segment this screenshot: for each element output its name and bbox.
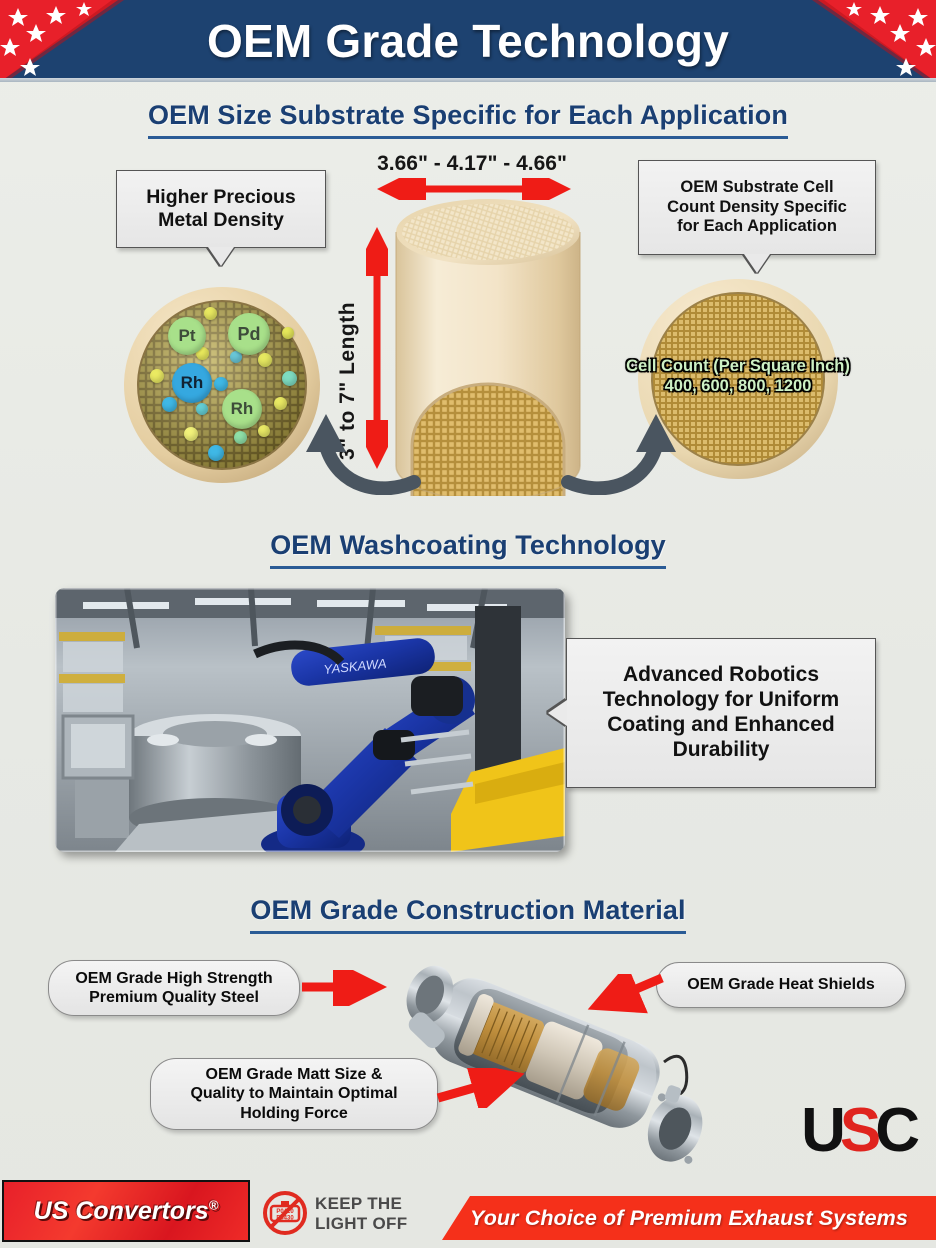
pointer-arrow-matt-icon	[436, 1068, 536, 1108]
particle	[234, 431, 247, 444]
metal-bubble-rh-green: Rh	[222, 389, 262, 429]
section-heading-substrate: OEM Size Substrate Specific for Each App…	[0, 100, 936, 139]
tagline-text: Your Choice of Premium Exhaust Systems	[442, 1196, 936, 1240]
callout-oem-grade-heat-shields: OEM Grade Heat Shields	[656, 962, 906, 1008]
keep-light-off-badge: P0420 P0430 KEEP THE LIGHT OFF	[262, 1190, 407, 1236]
particle	[208, 445, 224, 461]
infographic-page: OEM Grade Technology OEM Size Substrate …	[0, 0, 936, 1248]
connector-arrow-right-icon	[560, 400, 690, 495]
callout-tail-icon	[548, 700, 567, 726]
metal-bubble-rh-blue: Rh	[172, 363, 212, 403]
callout-line: Durability	[603, 738, 839, 763]
logo-letter-c: C	[875, 1096, 914, 1165]
particle	[258, 353, 272, 367]
callout-line: OEM Substrate Cell	[667, 178, 847, 197]
particle	[282, 327, 294, 339]
callout-tail-icon	[208, 247, 234, 266]
particle	[274, 397, 287, 410]
callout-line: Premium Quality Steel	[75, 988, 272, 1007]
section-heading-washcoating: OEM Washcoating Technology	[0, 530, 936, 569]
callout-oem-grade-matt-size-quality: OEM Grade Matt Size & Quality to Maintai…	[150, 1058, 438, 1130]
keep-light-line-1: KEEP THE	[315, 1195, 407, 1212]
keep-light-off-text: KEEP THE LIGHT OFF	[315, 1195, 407, 1232]
callout-high-strength-premium-steel: OEM Grade High Strength Premium Quality …	[48, 960, 300, 1016]
particle	[184, 427, 198, 441]
pointer-arrow-heat-shields-icon	[582, 974, 668, 1018]
cell-count-title: Cell Count (Per Square Inch)	[600, 357, 876, 377]
particle	[150, 369, 164, 383]
metal-bubble-pd: Pd	[228, 313, 270, 355]
particle	[214, 377, 228, 391]
callout-line: Count Density Specific	[667, 198, 847, 217]
metal-bubble-pt: Pt	[168, 317, 206, 355]
logo-letter-s: S	[840, 1096, 875, 1165]
page-footer: US Convertors® P0420 P0430 KEEP THE LIGH…	[0, 1170, 936, 1248]
robotics-factory-photo: YASKAWA	[55, 588, 565, 852]
particle	[162, 397, 177, 412]
callout-line: OEM Grade Matt Size &	[190, 1065, 397, 1084]
particle	[282, 371, 297, 386]
callout-line: Coating and Enhanced	[603, 713, 839, 738]
callout-line: Quality to Maintain Optimal	[190, 1084, 397, 1103]
callout-advanced-robotics-technology: Advanced Robotics Technology for Uniform…	[566, 638, 876, 788]
no-check-engine-light-icon: P0420 P0430	[262, 1190, 308, 1236]
callout-line: Metal Density	[146, 209, 296, 232]
callout-line: Holding Force	[190, 1104, 397, 1123]
callout-line: OEM Grade High Strength	[75, 969, 272, 988]
particle	[196, 403, 208, 415]
brand-badge: US Convertors®	[2, 1180, 250, 1242]
section-heading-construction: OEM Grade Construction Material	[0, 895, 936, 934]
header-divider	[0, 78, 936, 82]
callout-line: OEM Grade Heat Shields	[687, 975, 875, 994]
keep-light-line-2: LIGHT OFF	[315, 1215, 407, 1232]
particle	[258, 425, 270, 437]
callout-line: Technology for Uniform	[603, 688, 839, 713]
page-title: OEM Grade Technology	[0, 0, 936, 82]
callout-line: Advanced Robotics	[603, 663, 839, 688]
registered-mark: ®	[209, 1197, 219, 1212]
page-header: OEM Grade Technology	[0, 0, 936, 82]
usc-logo: USC	[801, 1100, 914, 1162]
pointer-arrow-steel-icon	[300, 970, 396, 1006]
diameter-dimension-label: 3.66" - 4.17" - 4.66"	[352, 152, 592, 176]
connector-arrow-left-icon	[292, 400, 422, 495]
brand-name: US Convertors®	[34, 1197, 219, 1226]
cell-count-label: Cell Count (Per Square Inch) 400, 600, 8…	[600, 357, 876, 397]
callout-higher-precious-metal-density: Higher Precious Metal Density	[116, 170, 326, 248]
cell-count-values: 400, 600, 800, 1200	[600, 377, 876, 397]
callout-line: for Each Application	[667, 217, 847, 236]
callout-tail-icon	[744, 254, 770, 273]
callout-oem-substrate-cell-count: OEM Substrate Cell Count Density Specifi…	[638, 160, 876, 255]
logo-letter-u: U	[801, 1096, 840, 1165]
particle	[204, 307, 217, 320]
callout-line: Higher Precious	[146, 186, 296, 209]
